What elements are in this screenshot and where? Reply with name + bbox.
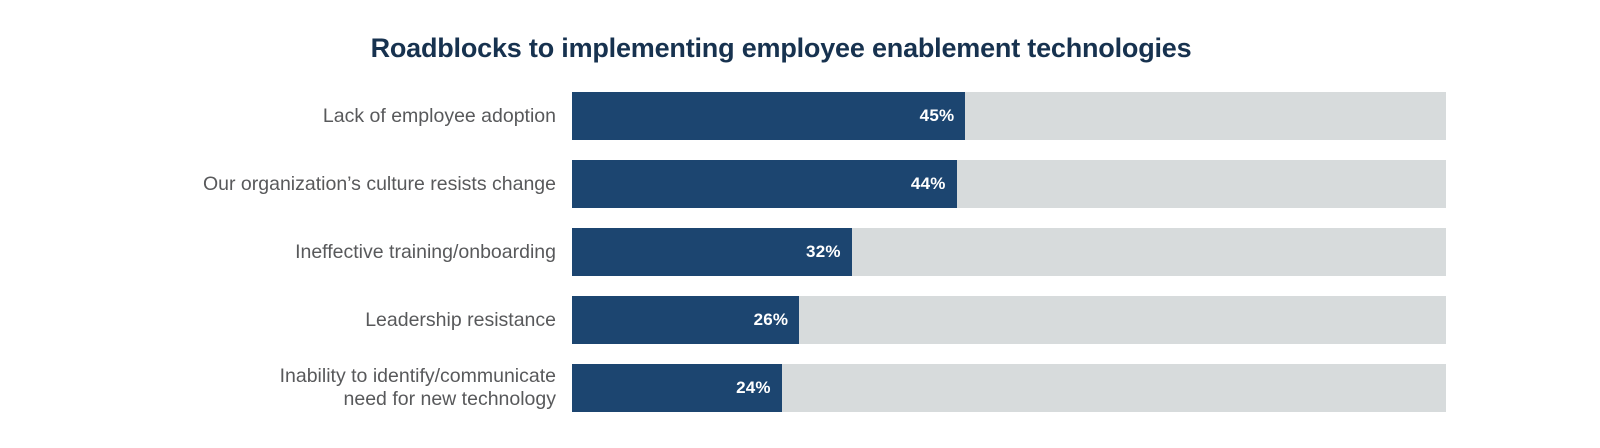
bar-value-label: 45%	[920, 106, 966, 126]
bar-row: Lack of employee adoption 45%	[0, 92, 1600, 140]
bar-fill: 45%	[572, 92, 965, 140]
bar-track: 44%	[572, 160, 1446, 208]
bar-track: 26%	[572, 296, 1446, 344]
bar-value-label: 24%	[736, 378, 782, 398]
bar-value-label: 44%	[911, 174, 957, 194]
bar-value-label: 26%	[754, 310, 800, 330]
bar-fill: 32%	[572, 228, 852, 276]
bar-track: 45%	[572, 92, 1446, 140]
category-label: Inability to identify/communicate need f…	[136, 365, 556, 411]
category-label: Ineffective training/onboarding	[136, 241, 556, 264]
bar-track: 32%	[572, 228, 1446, 276]
bar-track: 24%	[572, 364, 1446, 412]
category-label: Lack of employee adoption	[136, 105, 556, 128]
bar-row: Leadership resistance 26%	[0, 296, 1600, 344]
bar-row: Ineffective training/onboarding 32%	[0, 228, 1600, 276]
bar-row: Our organization’s culture resists chang…	[0, 160, 1600, 208]
chart-title: Roadblocks to implementing employee enab…	[0, 33, 1562, 64]
category-label: Leadership resistance	[136, 309, 556, 332]
bar-fill: 44%	[572, 160, 957, 208]
chart-canvas: Roadblocks to implementing employee enab…	[0, 0, 1600, 448]
bar-fill: 26%	[572, 296, 799, 344]
bar-row: Inability to identify/communicate need f…	[0, 364, 1600, 412]
category-label: Our organization’s culture resists chang…	[136, 173, 556, 196]
bar-fill: 24%	[572, 364, 782, 412]
plot-area: Lack of employee adoption 45% Our organi…	[0, 92, 1600, 428]
bar-value-label: 32%	[806, 242, 852, 262]
